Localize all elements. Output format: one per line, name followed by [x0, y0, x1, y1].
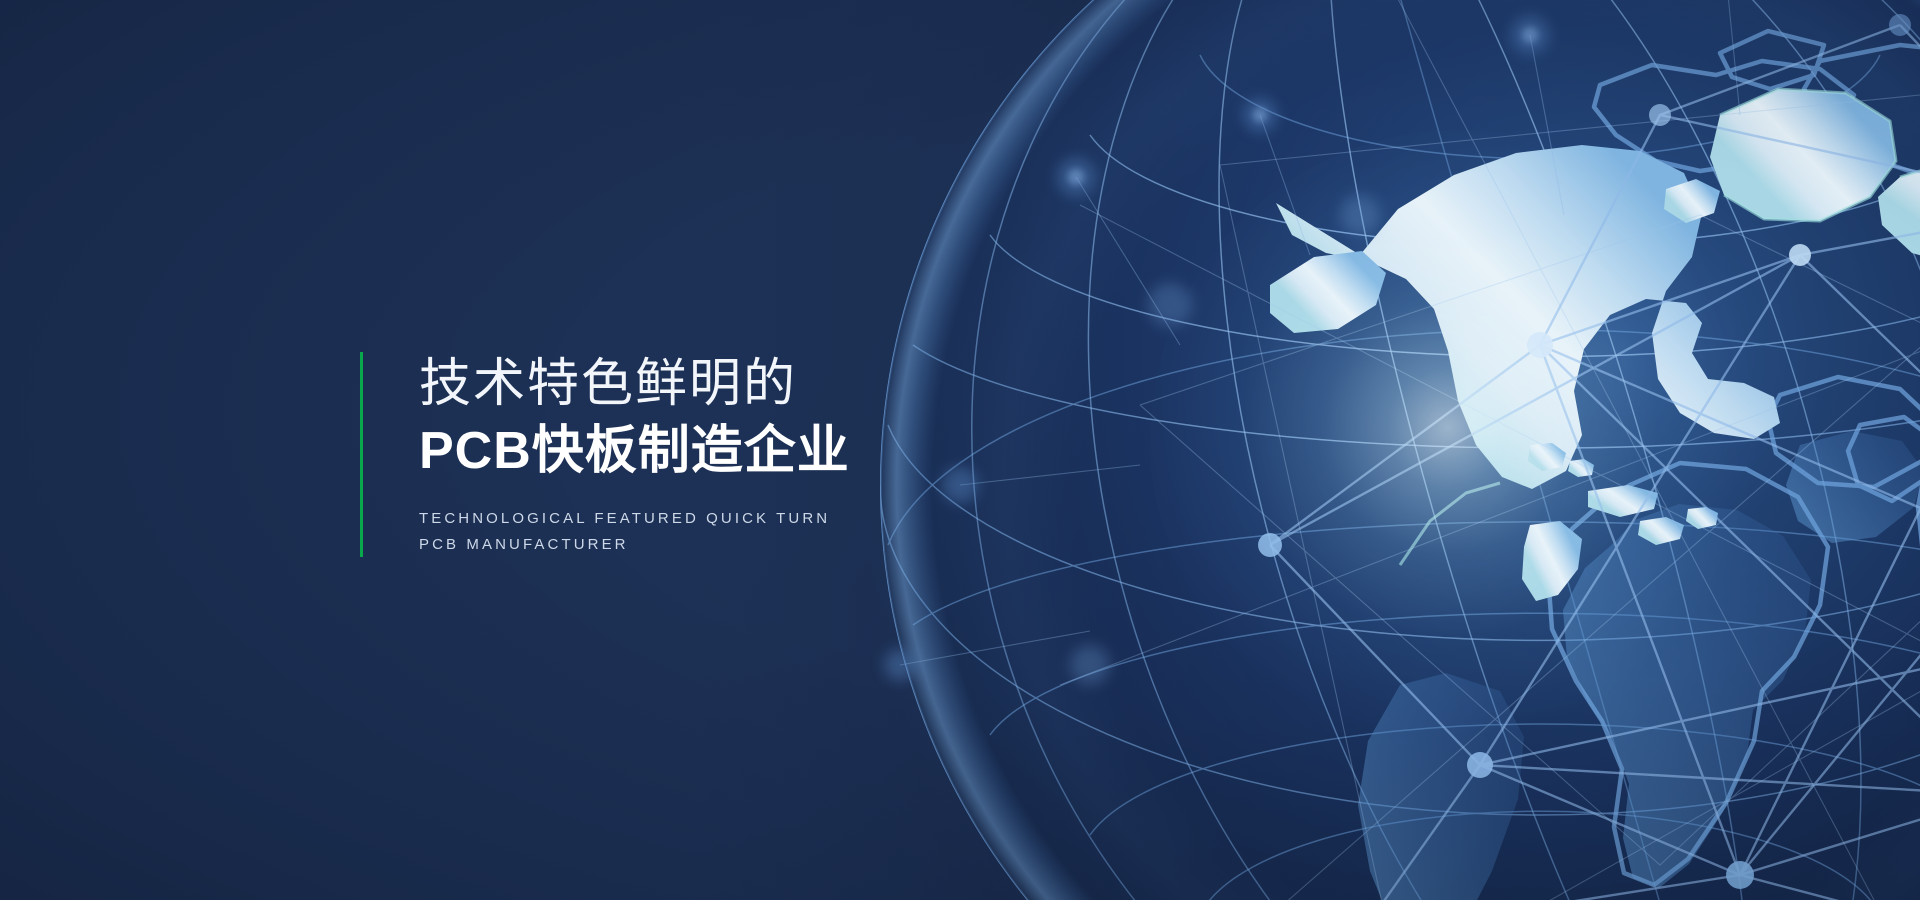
hero-subtitle: TECHNOLOGICAL FEATURED QUICK TURN PCB MA… — [419, 506, 850, 558]
hero-banner: 技术特色鲜明的 PCB快板制造企业 TECHNOLOGICAL FEATURED… — [0, 0, 1920, 900]
hero-title-line1: 技术特色鲜明的 — [419, 355, 850, 414]
green-accent-bar — [360, 352, 363, 557]
hero-title-line2: PCB快板制造企业 — [419, 420, 850, 483]
hero-text-group: 技术特色鲜明的 PCB快板制造企业 TECHNOLOGICAL FEATURED… — [419, 352, 850, 557]
hero-copy-block: 技术特色鲜明的 PCB快板制造企业 TECHNOLOGICAL FEATURED… — [360, 352, 850, 557]
hero-subtitle-line2: PCB MANUFACTURER — [419, 532, 850, 558]
globe-network-illustration — [840, 0, 1920, 900]
hero-subtitle-line1: TECHNOLOGICAL FEATURED QUICK TURN — [419, 506, 850, 532]
